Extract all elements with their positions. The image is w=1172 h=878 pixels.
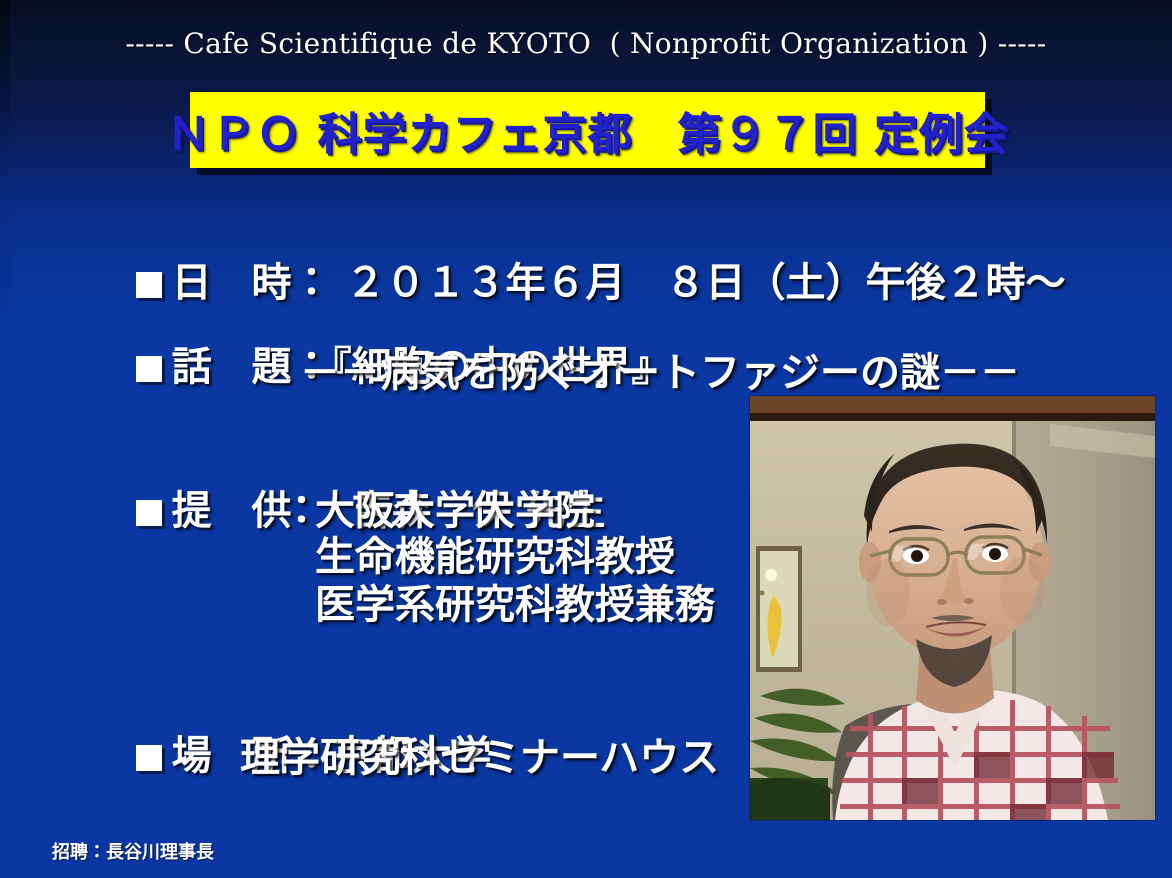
speaker-affiliation-line-3: 医学系研究科教授兼務 (315, 572, 715, 630)
event-topic-subtitle: －－病気を防ぐオートファジーの謎－－ (300, 340, 1020, 398)
bullet-square-icon (136, 500, 162, 526)
bullet-square-icon (136, 745, 162, 771)
footer-invitation-note: 招聘：長谷川理事長 (52, 838, 214, 864)
speaker-photo-graphic (750, 396, 1155, 820)
event-venue-line-2: 理学研究科セミナーハウス (240, 725, 719, 783)
speaker-photo (750, 396, 1155, 820)
bullet-square-icon (136, 356, 162, 382)
presentation-slide: ----- Cafe Scientifique de KYOTO ( Nonpr… (0, 0, 1172, 878)
